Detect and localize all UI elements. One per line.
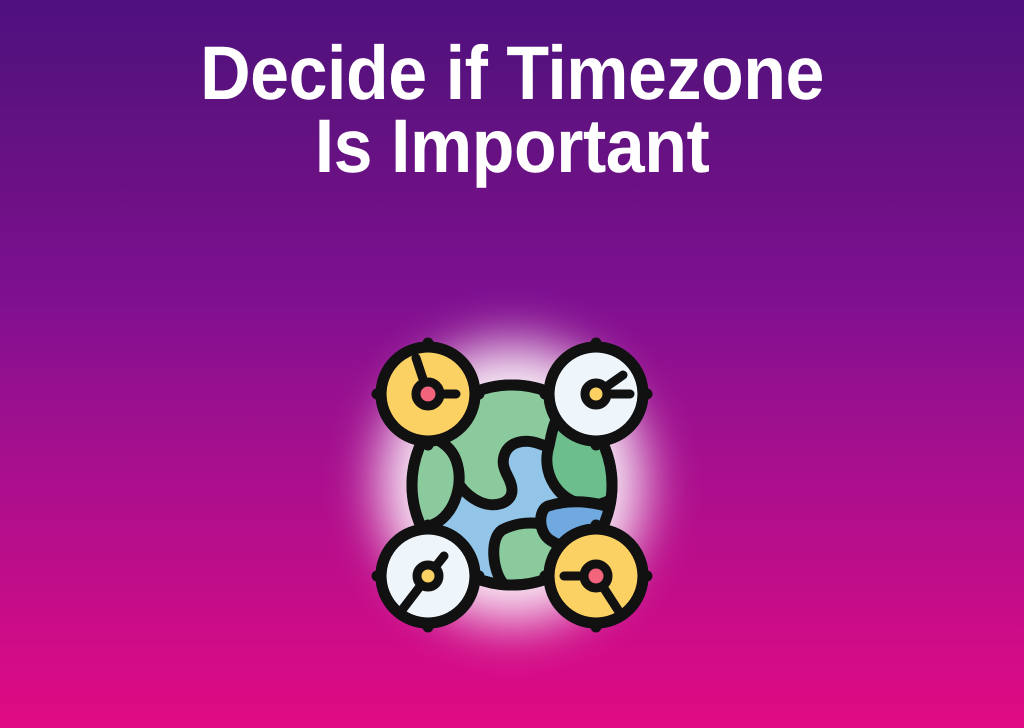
clock-top-left-center-dot <box>416 382 440 406</box>
illustration-svg <box>352 318 672 648</box>
page-title-line-1: Decide if Timezone <box>41 38 983 111</box>
clock-bottom-left <box>377 525 479 627</box>
clock-top-left <box>377 343 479 445</box>
clock-bottom-right <box>545 525 647 627</box>
clock-top-right-center-dot <box>585 383 607 405</box>
world-clocks-timezone-illustration <box>352 318 672 648</box>
title-card-page: Decide if Timezone Is Important <box>0 0 1024 728</box>
page-title-line-2: Is Important <box>41 111 983 184</box>
clock-top-right <box>545 343 647 445</box>
page-title: Decide if Timezone Is Important <box>41 38 983 184</box>
clock-bottom-left-center-dot <box>417 565 439 587</box>
clock-bottom-right-center-dot <box>584 564 608 588</box>
